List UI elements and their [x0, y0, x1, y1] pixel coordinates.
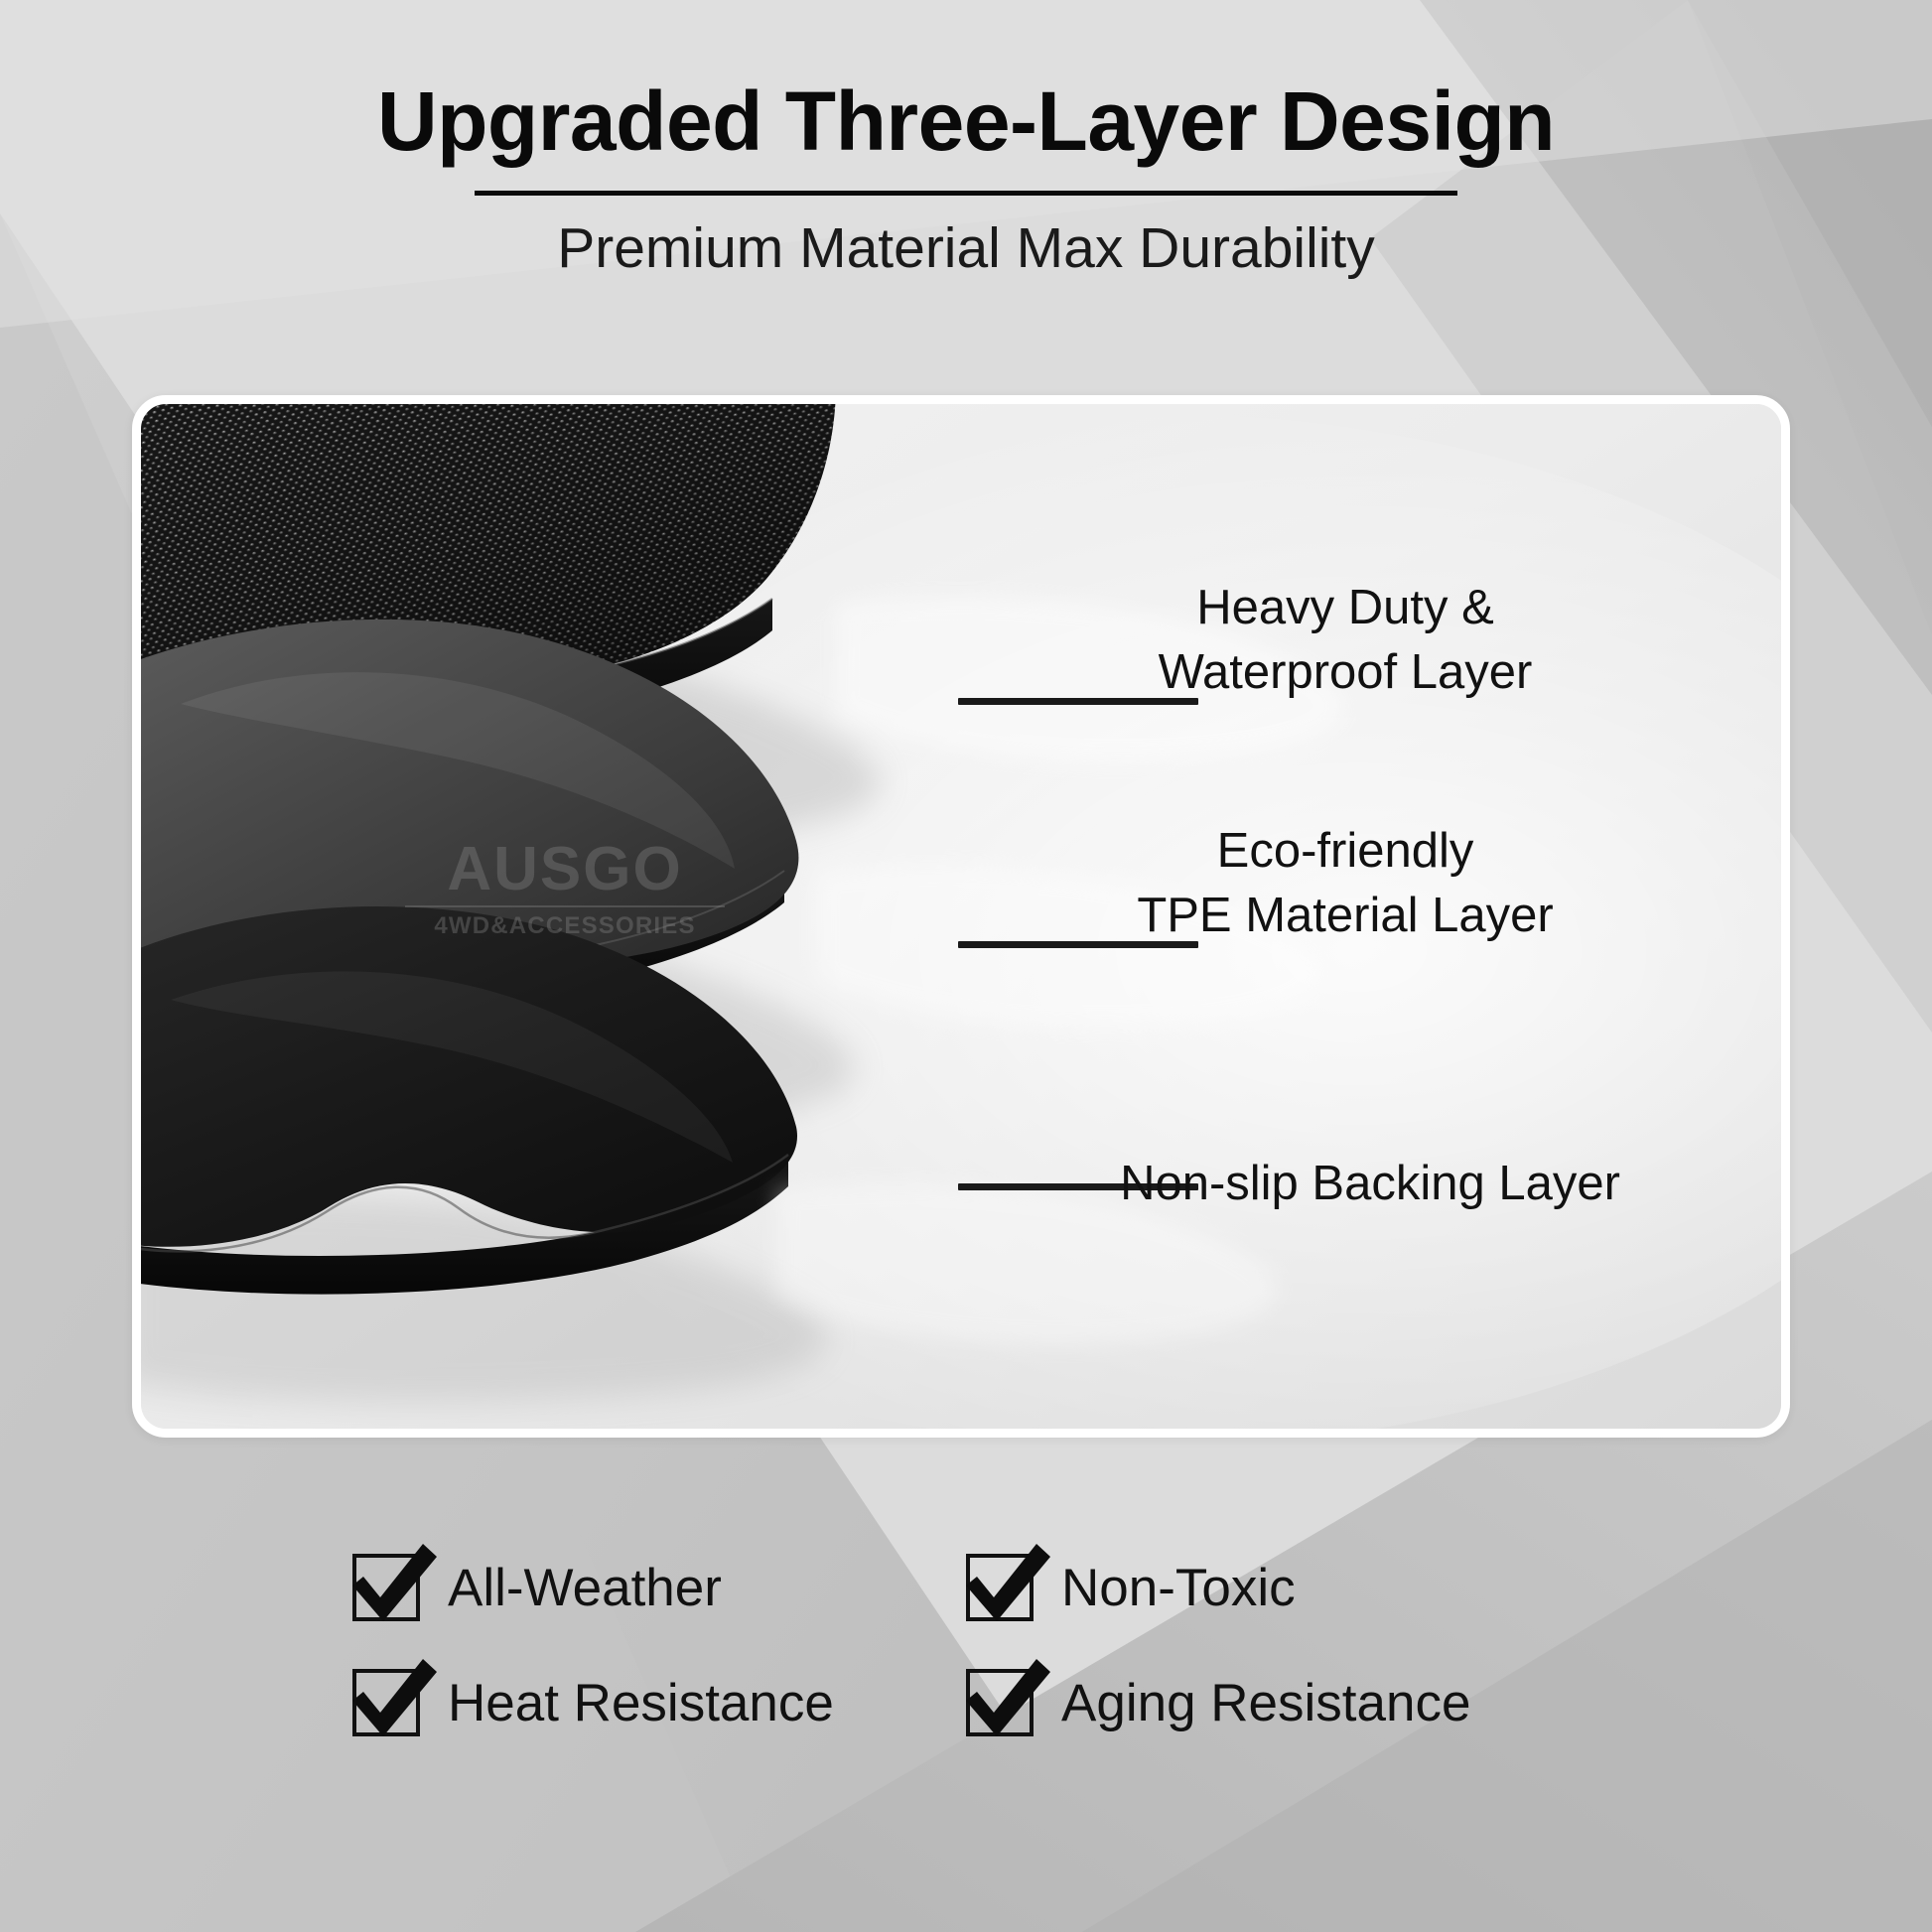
page-subtitle: Premium Material Max Durability [0, 217, 1932, 280]
callout-label: Eco-friendly TPE Material Layer [1023, 819, 1668, 947]
header: Upgraded Three-Layer Design Premium Mate… [0, 0, 1932, 328]
callout-label: Heavy Duty & Waterproof Layer [1023, 576, 1668, 704]
checkmark-icon [341, 1651, 444, 1754]
checkmark-icon [341, 1536, 444, 1639]
feature-item-non-toxic: Non-Toxic [966, 1554, 1580, 1621]
callout-label: Non-slip Backing Layer [1023, 1152, 1718, 1216]
checkbox-non-toxic[interactable] [966, 1554, 1034, 1621]
checkbox-all-weather[interactable] [352, 1554, 420, 1621]
checkmark-icon [954, 1536, 1057, 1639]
feature-item-all-weather: All-Weather [352, 1554, 966, 1621]
checkbox-aging-resistance[interactable] [966, 1669, 1034, 1736]
page-title: Upgraded Three-Layer Design [0, 77, 1932, 165]
checkmark-icon [954, 1651, 1057, 1754]
feature-label: Heat Resistance [448, 1673, 834, 1733]
feature-label: All-Weather [448, 1558, 722, 1618]
feature-checklist: All-Weather Non-Toxic Heat Resistance Ag… [0, 1554, 1932, 1736]
feature-label: Non-Toxic [1061, 1558, 1296, 1618]
feature-label: Aging Resistance [1061, 1673, 1470, 1733]
feature-item-aging-resistance: Aging Resistance [966, 1669, 1580, 1736]
checkbox-heat-resistance[interactable] [352, 1669, 420, 1736]
feature-item-heat-resistance: Heat Resistance [352, 1669, 966, 1736]
title-divider [475, 191, 1457, 196]
